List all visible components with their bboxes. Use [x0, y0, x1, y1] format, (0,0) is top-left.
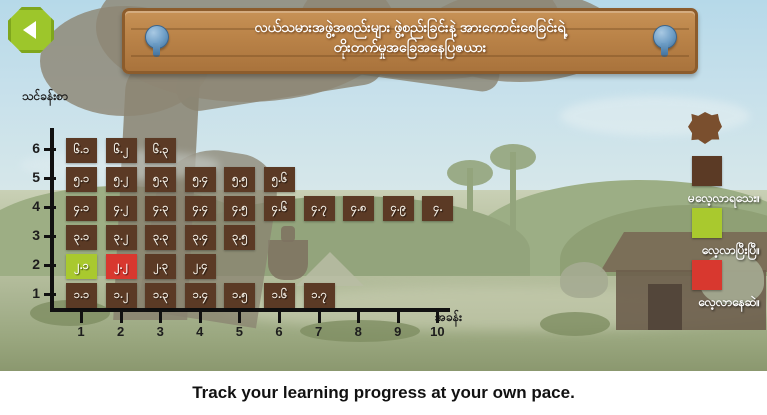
title-banner: လယ်သမားအဖွဲ့အစည်းများ ဖွဲ့စည်းခြင်းနဲ့ အ… [122, 8, 698, 74]
caption: Track your learning progress at your own… [0, 371, 767, 415]
legend: မလေ့လာရသေး။လေ့လာပြီးပြီ။လေ့လာနေဆဲ။ [612, 112, 764, 308]
shield-icon [688, 112, 722, 144]
x-tick-label: 1 [68, 324, 94, 339]
x-tick-label: 5 [226, 324, 252, 339]
chart-cell[interactable]: ၄.၂ [106, 196, 137, 221]
title-line-2: တိုးတက်မှုအခြေအနေပြဇယား [181, 37, 639, 57]
chart-cell[interactable]: ၄.၈ [343, 196, 374, 221]
chart-cell[interactable]: ၁.၆ [264, 283, 295, 308]
x-tick-label: 4 [187, 324, 213, 339]
x-tick [357, 312, 360, 323]
chart-cell[interactable]: ၅.၆ [264, 167, 295, 192]
chart-cell[interactable]: ၄.၇ [304, 196, 335, 221]
y-tick-label: 6 [24, 140, 40, 156]
chart-cell[interactable]: ၁.၄ [185, 283, 216, 308]
chart-cell[interactable]: ၅.၄ [185, 167, 216, 192]
chart-cell[interactable]: ၁.၁ [66, 283, 97, 308]
x-tick [120, 312, 123, 323]
chart-cell[interactable]: ၄.၅ [224, 196, 255, 221]
y-axis-label: သင်ခန်းစာ [22, 88, 68, 106]
chart-cell[interactable]: ၆.၁ [66, 138, 97, 163]
rock [560, 262, 608, 298]
x-tick [80, 312, 83, 323]
x-tick-label: 7 [306, 324, 332, 339]
chart-cell[interactable]: ၅.၃ [145, 167, 176, 192]
y-axis-line [50, 128, 54, 310]
chart-cell[interactable]: ၄.၉ [383, 196, 414, 221]
chart-cell[interactable]: ၅.၅ [224, 167, 255, 192]
x-tick [318, 312, 321, 323]
x-axis-line [50, 308, 450, 312]
x-tick [436, 312, 439, 323]
legend-swatch [692, 260, 722, 290]
chart-cell[interactable]: ၂.၁ [66, 254, 97, 279]
y-tick-label: 4 [24, 198, 40, 214]
left-triangle-icon [23, 21, 36, 39]
chart-cell[interactable]: ၆.၃ [145, 138, 176, 163]
progress-chart: သင်ခန်းစာ အခန်း 123456 12345678910 ၆.၁၆.… [0, 88, 520, 338]
x-tick-label: 3 [147, 324, 173, 339]
screw-icon [653, 25, 677, 49]
chart-cell[interactable]: ၂.၃ [145, 254, 176, 279]
app-root: လယ်သမားအဖွဲ့အစည်းများ ဖွဲ့စည်းခြင်းနဲ့ အ… [0, 0, 767, 415]
legend-label: လေ့လာပြီးပြီ။ [608, 242, 764, 260]
bush [540, 312, 610, 336]
y-tick-label: 3 [24, 227, 40, 243]
chart-cell[interactable]: ၁.၃ [145, 283, 176, 308]
x-tick-label: 8 [345, 324, 371, 339]
x-tick-label: 2 [108, 324, 134, 339]
y-tick [44, 177, 56, 180]
chart-cell[interactable]: ၁.၂ [106, 283, 137, 308]
x-tick [159, 312, 162, 323]
x-tick [199, 312, 202, 323]
legend-label: မလေ့လာရသေး။ [608, 190, 764, 208]
chart-cell[interactable]: ၂.၄ [185, 254, 216, 279]
y-tick [44, 264, 56, 267]
x-tick [238, 312, 241, 323]
chart-cell[interactable]: ၃.၄ [185, 225, 216, 250]
x-tick-label: 6 [266, 324, 292, 339]
x-tick [278, 312, 281, 323]
chart-cell[interactable]: ၃.၂ [106, 225, 137, 250]
chart-cell[interactable]: ၁.၅ [224, 283, 255, 308]
chart-cell[interactable]: ၂.၂ [106, 254, 137, 279]
page-title: လယ်သမားအဖွဲ့အစည်းများ ဖွဲ့စည်းခြင်းနဲ့ အ… [181, 17, 639, 58]
legend-label: လေ့လာနေဆဲ။ [608, 294, 764, 312]
chart-cell[interactable]: ၃.၅ [224, 225, 255, 250]
chart-cell[interactable]: ၅.၁ [66, 167, 97, 192]
y-tick [44, 206, 56, 209]
chart-cell[interactable]: ၁.၇ [304, 283, 335, 308]
legend-swatch [692, 208, 722, 238]
chart-cell[interactable]: ၃.၃ [145, 225, 176, 250]
y-tick [44, 235, 56, 238]
title-line-1: လယ်သမားအဖွဲ့အစည်းများ ဖွဲ့စည်းခြင်းနဲ့ အ… [181, 17, 639, 37]
y-tick-label: 2 [24, 256, 40, 272]
chart-cell[interactable]: ၃.၁ [66, 225, 97, 250]
legend-swatch [692, 156, 722, 186]
y-tick [44, 293, 56, 296]
chart-cell[interactable]: ၄.၄ [185, 196, 216, 221]
chart-cell[interactable]: ၅.၂ [106, 167, 137, 192]
chart-cell[interactable]: ၄.၁ [66, 196, 97, 221]
y-tick-label: 5 [24, 169, 40, 185]
chart-cell[interactable]: ၄.၆ [264, 196, 295, 221]
x-tick-label: 9 [385, 324, 411, 339]
x-tick-label: 10 [424, 324, 450, 339]
screw-icon [145, 25, 169, 49]
y-tick-label: 1 [24, 285, 40, 301]
chart-cell[interactable]: ၄. [422, 196, 453, 221]
chart-cell[interactable]: ၄.၃ [145, 196, 176, 221]
x-tick [397, 312, 400, 323]
y-tick [44, 148, 56, 151]
chart-cell[interactable]: ၆.၂ [106, 138, 137, 163]
